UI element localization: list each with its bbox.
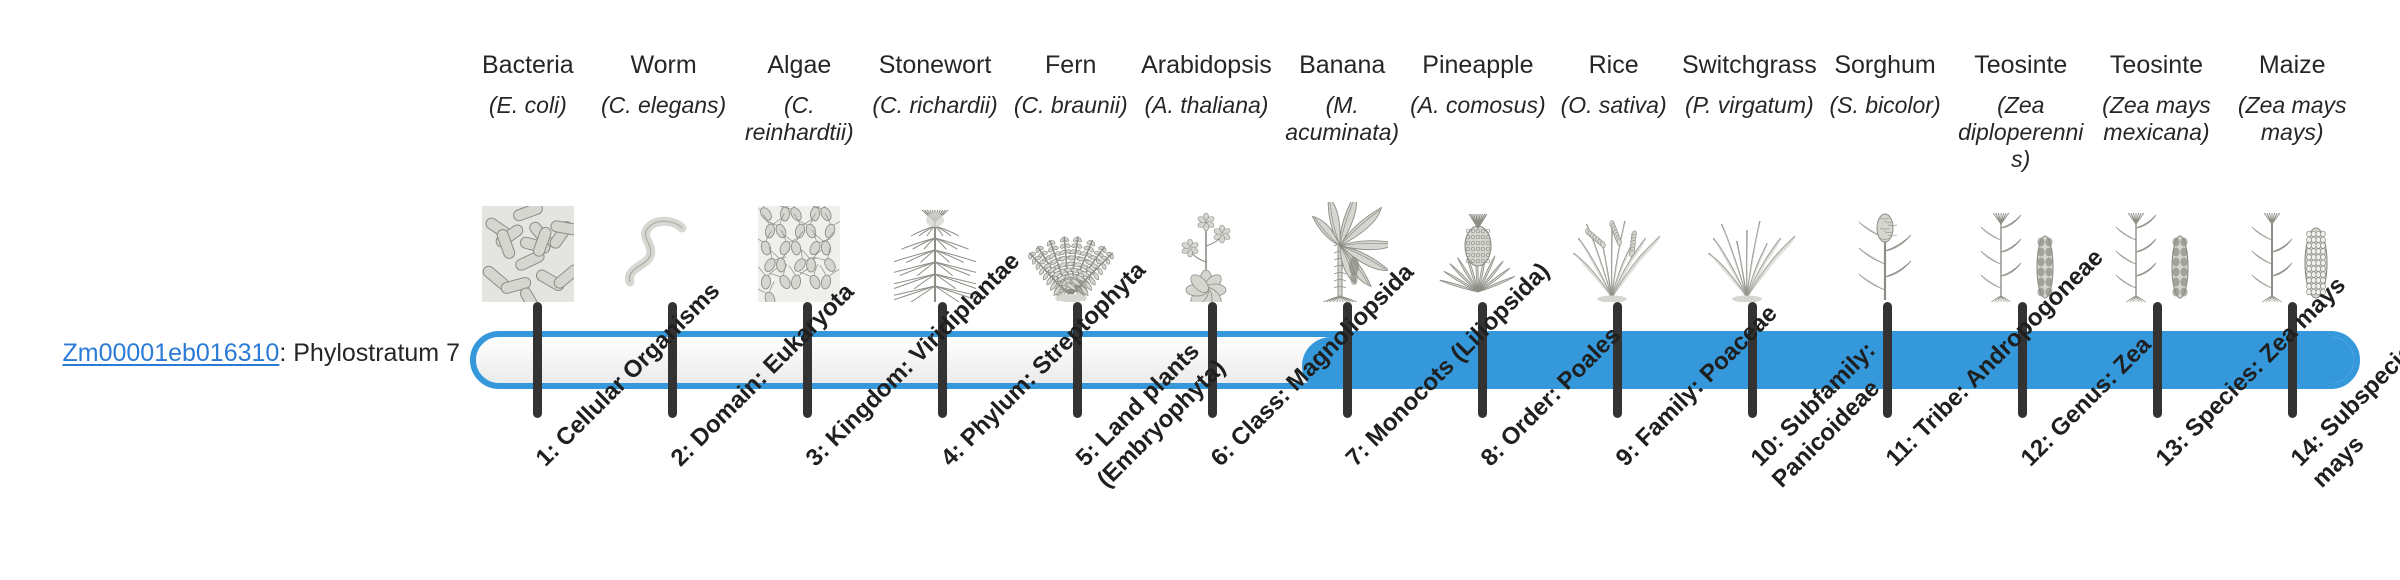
species-scientific-name: (C. elegans) (601, 92, 726, 119)
species-scientific-name: (M. acuminata) (1274, 92, 1410, 146)
arabidopsis-icon (1165, 125, 1247, 310)
timeline-tick (1208, 302, 1217, 418)
timeline-tick (668, 302, 677, 418)
species-scientific-name: (A. thaliana) (1144, 92, 1268, 119)
timeline-tick (1613, 302, 1622, 418)
teosinte-icon (1971, 179, 2071, 310)
species-column: Sorghum(S. bicolor) (1817, 50, 1953, 310)
species-scientific-name: (Zea diploperennis) (1953, 92, 2089, 173)
species-common-name: Arabidopsis (1141, 50, 1272, 80)
species-scientific-name: (E. coli) (489, 92, 567, 119)
phylostratum-timeline (470, 331, 2360, 389)
species-column: Arabidopsis(A. thaliana) (1139, 50, 1275, 310)
stratum-label-group: 1: Cellular Organisms2: Domain: Eukaryot… (470, 452, 2360, 580)
algae-icon (758, 152, 840, 310)
species-common-name: Algae (767, 50, 831, 80)
gene-phylostratum-caption: Zm00001eb016310: Phylostratum 7 (40, 338, 460, 368)
species-scientific-name: (Zea mays mexicana) (2089, 92, 2225, 146)
species-scientific-name: (C. braunii) (1014, 92, 1128, 119)
species-common-name: Banana (1299, 50, 1385, 80)
species-scientific-name: (A. comosus) (1410, 92, 1545, 119)
timeline-tick (803, 302, 812, 418)
maize-icon (2242, 152, 2342, 310)
species-column: Pineapple(A. comosus) (1410, 50, 1546, 310)
worm-icon (616, 125, 712, 310)
banana-icon (1296, 152, 1388, 310)
stonewort-icon (894, 125, 976, 310)
gene-id-link[interactable]: Zm00001eb016310 (62, 339, 279, 367)
fern-icon (1025, 125, 1117, 310)
timeline-tick (1073, 302, 1082, 418)
timeline-tick (533, 302, 542, 418)
teosinte-icon (2106, 152, 2206, 310)
species-common-name: Stonewort (879, 50, 992, 80)
sorghum-icon (1844, 125, 1926, 310)
species-common-name: Rice (1589, 50, 1639, 80)
switchgrass-icon (1703, 125, 1795, 310)
timeline-tick (2153, 302, 2162, 418)
species-common-name: Pineapple (1422, 50, 1533, 80)
species-scientific-name: (C. reinhardtii) (731, 92, 867, 146)
species-common-name: Bacteria (482, 50, 574, 80)
species-common-name: Fern (1045, 50, 1096, 80)
species-column: Maize(Zea mays mays) (2224, 50, 2360, 310)
species-common-name: Teosinte (1974, 50, 2067, 80)
timeline-tick-group (470, 331, 2360, 389)
phylostratum-value: Phylostratum 7 (293, 339, 460, 367)
species-common-name: Teosinte (2110, 50, 2203, 80)
species-column: Rice(O. sativa) (1546, 50, 1682, 310)
timeline-tick (1478, 302, 1487, 418)
timeline-tick (2018, 302, 2027, 418)
species-common-name: Switchgrass (1682, 50, 1817, 80)
rice-icon (1568, 125, 1660, 310)
species-scientific-name: (Zea mays mays) (2224, 92, 2360, 146)
species-column: Teosinte(Zea diploperennis) (1953, 50, 2089, 310)
species-column: Algae(C. reinhardtii) (731, 50, 867, 310)
species-common-name: Maize (2259, 50, 2326, 80)
timeline-tick (1883, 302, 1892, 418)
phylostratum-timeline-figure: Zm00001eb016310: Phylostratum 7 Bacteria… (0, 0, 2400, 580)
species-scientific-name: (O. sativa) (1561, 92, 1667, 119)
species-column: Bacteria(E. coli) (460, 50, 596, 310)
species-column: Worm(C. elegans) (596, 50, 732, 310)
species-column: Banana(M. acuminata) (1274, 50, 1410, 310)
species-column: Fern(C. braunii) (1003, 50, 1139, 310)
species-column: Stonewort(C. richardii) (867, 50, 1003, 310)
timeline-tick (938, 302, 947, 418)
species-scientific-name: (S. bicolor) (1829, 92, 1940, 119)
species-common-name: Worm (630, 50, 696, 80)
species-column: Switchgrass(P. virgatum) (1681, 50, 1817, 310)
bacteria-icon (482, 125, 574, 310)
species-header-row: Bacteria(E. coli)Worm(C. elegans) Algae(… (460, 50, 2360, 310)
pineapple-icon (1437, 125, 1519, 310)
species-common-name: Sorghum (1834, 50, 1935, 80)
timeline-tick (2288, 302, 2297, 418)
caption-separator: : (279, 339, 293, 367)
species-scientific-name: (C. richardii) (872, 92, 997, 119)
timeline-tick (1343, 302, 1352, 418)
species-column: Teosinte(Zea mays mexicana) (2089, 50, 2225, 310)
species-scientific-name: (P. virgatum) (1685, 92, 1814, 119)
timeline-tick (1748, 302, 1757, 418)
